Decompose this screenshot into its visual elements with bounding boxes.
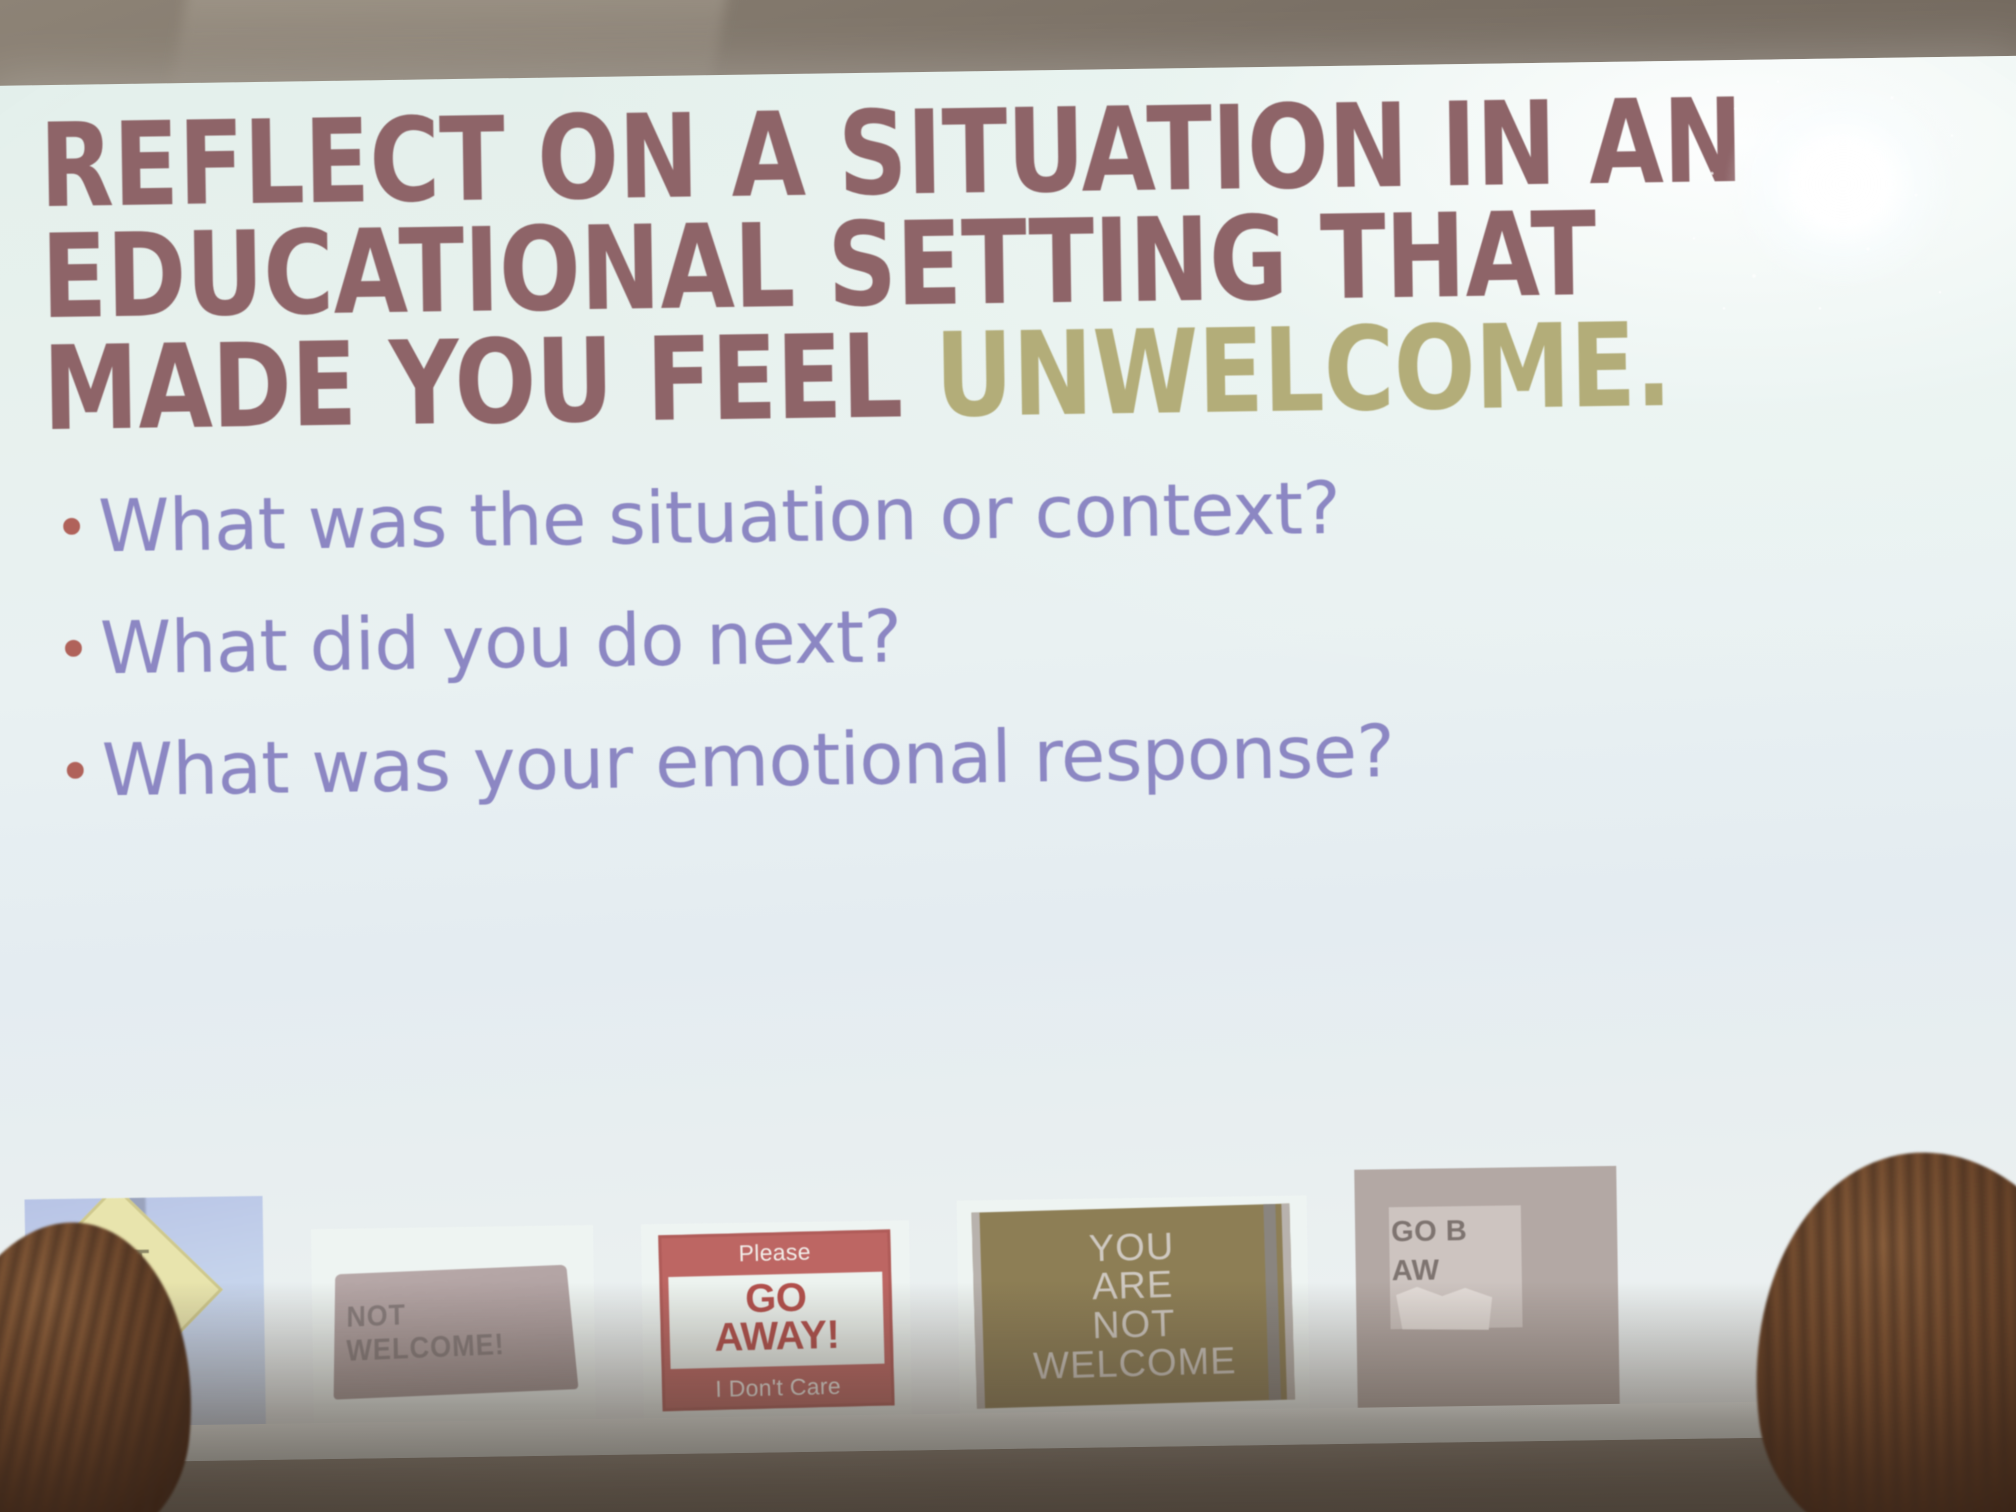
slide-title: REFLECT ON A SITUATION IN AN EDUCATIONAL… [22, 84, 1841, 445]
reflection-question-2: What did you do next? [100, 598, 902, 688]
list-item: • What was your emotional response? [58, 704, 2005, 811]
slide-title-highlight: UNWELCOME. [934, 298, 1672, 444]
poster-line-1: GO B [1391, 1211, 1532, 1252]
bullet-dot-icon: • [56, 620, 91, 678]
poster-text: GO B AW [1391, 1211, 1532, 1291]
slide-content: REFLECT ON A SITUATION IN AN EDUCATIONAL… [0, 56, 2016, 1464]
not-welcome-line-1: YOU [1088, 1227, 1174, 1268]
bullet-dot-icon: • [54, 499, 89, 557]
reflection-question-1: What was the situation or context? [98, 470, 1341, 566]
reflection-questions-list: • What was the situation or context? • W… [28, 460, 2005, 810]
screenshot-root: REFLECT ON A SITUATION IN AN EDUCATIONAL… [0, 0, 2016, 1512]
projection-screen: REFLECT ON A SITUATION IN AN EDUCATIONAL… [0, 56, 2016, 1464]
go-away-caption-top: Please [661, 1237, 888, 1270]
list-item: • What did you do next? [56, 582, 2003, 689]
slide-title-line-3: MADE YOU FEEL UNWELCOME. [42, 307, 1841, 445]
list-item: • What was the situation or context? [54, 460, 2001, 567]
slide-title-line-3-text: MADE YOU FEEL [42, 309, 936, 457]
wall-lower-shadow [0, 1282, 2016, 1512]
reflection-question-3: What was your emotional response? [101, 713, 1394, 810]
bullet-dot-icon: • [58, 742, 93, 800]
